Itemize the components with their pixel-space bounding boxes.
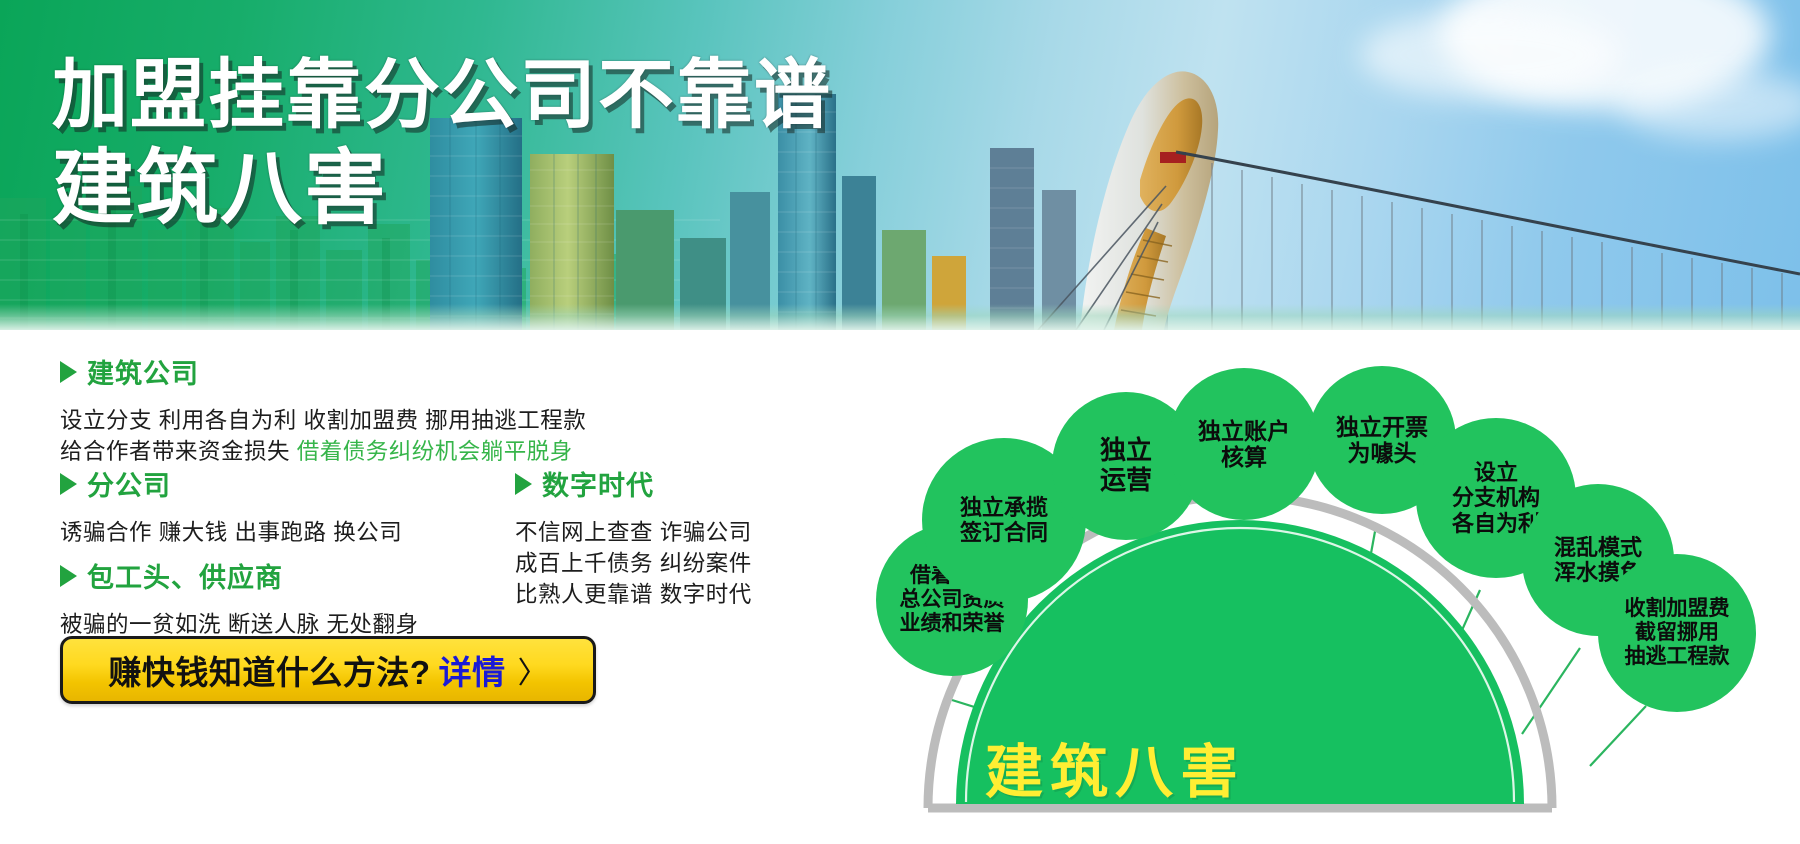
- section-body-line: 设立分支 利用各自为利 收割加盟费 挪用抽逃工程款: [60, 405, 586, 436]
- section-title: 建筑公司: [87, 352, 199, 391]
- hero-title-line-1: 加盟挂靠分公司不靠谱: [52, 58, 832, 134]
- chevron-right-icon: 〉: [518, 648, 548, 692]
- section-body-line: 不信网上查查 诈骗公司: [515, 517, 752, 548]
- body-text: 设立分支 利用各自为利 收割加盟费 挪用抽逃工程款: [60, 408, 586, 433]
- bubble-line: 设立: [1452, 460, 1540, 485]
- section-body-line: 成百上千债务 纠纷案件: [515, 548, 752, 579]
- bubble-line: 独立账户: [1198, 418, 1290, 444]
- triangle-bullet-icon: [515, 473, 532, 495]
- body-text-accent: 借着债务纠纷机会躺平脱身: [297, 439, 573, 464]
- hero-title-block: 加盟挂靠分公司不靠谱 建筑八害: [52, 58, 832, 230]
- bubble-line: 截留挪用: [1625, 621, 1730, 645]
- triangle-bullet-icon: [60, 565, 77, 587]
- cta-button[interactable]: 赚快钱知道什么方法? 详情 〉: [60, 636, 596, 704]
- bubble-line: 独立: [1100, 436, 1152, 466]
- bubble-line: 分支机构: [1452, 485, 1540, 510]
- bubble-line: 业绩和荣誉: [900, 612, 1005, 636]
- section-title: 分公司: [87, 464, 171, 503]
- bridge-illustration: [980, 0, 1800, 330]
- bubble-line: 收割加盟费: [1625, 597, 1730, 621]
- bubble-line: 抽逃工程款: [1625, 645, 1730, 669]
- cta-details-link[interactable]: 详情: [439, 646, 506, 694]
- section-title: 包工头、供应商: [87, 556, 283, 595]
- hero-bottom-fade: [0, 304, 1800, 330]
- bubble-line: 独立开票: [1336, 414, 1428, 440]
- bubble-harvest-franchise-fee[interactable]: 收割加盟费 截留挪用 抽逃工程款: [1598, 554, 1756, 712]
- section-branch-company: 分公司 诱骗合作 赚大钱 出事跑路 换公司: [60, 464, 402, 548]
- bubble-independent-account[interactable]: 独立账户 核算: [1168, 368, 1320, 520]
- bubble-line: 混乱模式: [1554, 535, 1642, 560]
- hero-banner: 加盟挂靠分公司不靠谱 建筑八害: [0, 0, 1800, 330]
- body-text: 给合作者带来资金损失: [60, 439, 297, 464]
- section-header: 包工头、供应商: [60, 556, 419, 595]
- section-header: 数字时代: [515, 464, 752, 503]
- section-body-line: 比熟人更靠谱 数字时代: [515, 579, 752, 610]
- section-title: 数字时代: [542, 464, 654, 503]
- bubble-line: 独立承揽: [960, 495, 1048, 520]
- hero-title-line-2: 建筑八害: [52, 148, 832, 230]
- bubble-line: 核算: [1198, 444, 1290, 470]
- triangle-bullet-icon: [60, 361, 77, 383]
- bubble-line: 签订合同: [960, 520, 1048, 545]
- cta-question-label: 赚快钱知道什么方法?: [108, 646, 430, 694]
- section-contractor-supplier: 包工头、供应商 被骗的一贫如洗 断送人脉 无处翻身: [60, 556, 419, 640]
- bubble-line: 运营: [1100, 466, 1152, 496]
- section-digital-era: 数字时代 不信网上查查 诈骗公司 成百上千债务 纠纷案件 比熟人更靠谱 数字时代: [515, 464, 752, 610]
- triangle-bullet-icon: [60, 473, 77, 495]
- left-content: 建筑公司 设立分支 利用各自为利 收割加盟费 挪用抽逃工程款 给合作者带来资金损…: [0, 330, 820, 844]
- poster-root: 加盟挂靠分公司不靠谱 建筑八害 建筑公司 设立分支 利用各自为利 收割加盟费 挪…: [0, 0, 1800, 844]
- section-body-line: 给合作者带来资金损失 借着债务纠纷机会躺平脱身: [60, 436, 586, 467]
- section-body-line: 诱骗合作 赚大钱 出事跑路 换公司: [60, 517, 402, 548]
- bubble-line: 为噱头: [1336, 440, 1428, 466]
- dome-title: 建筑八害: [985, 725, 1245, 809]
- section-header: 分公司: [60, 464, 402, 503]
- section-construction-company: 建筑公司 设立分支 利用各自为利 收割加盟费 挪用抽逃工程款 给合作者带来资金损…: [60, 352, 586, 467]
- eight-harms-diagram: 建筑八害 借着使用 总公司资质 业绩和荣誉 独立承揽 签订合同 独立 运营 独立…: [780, 330, 1800, 844]
- section-header: 建筑公司: [60, 352, 586, 391]
